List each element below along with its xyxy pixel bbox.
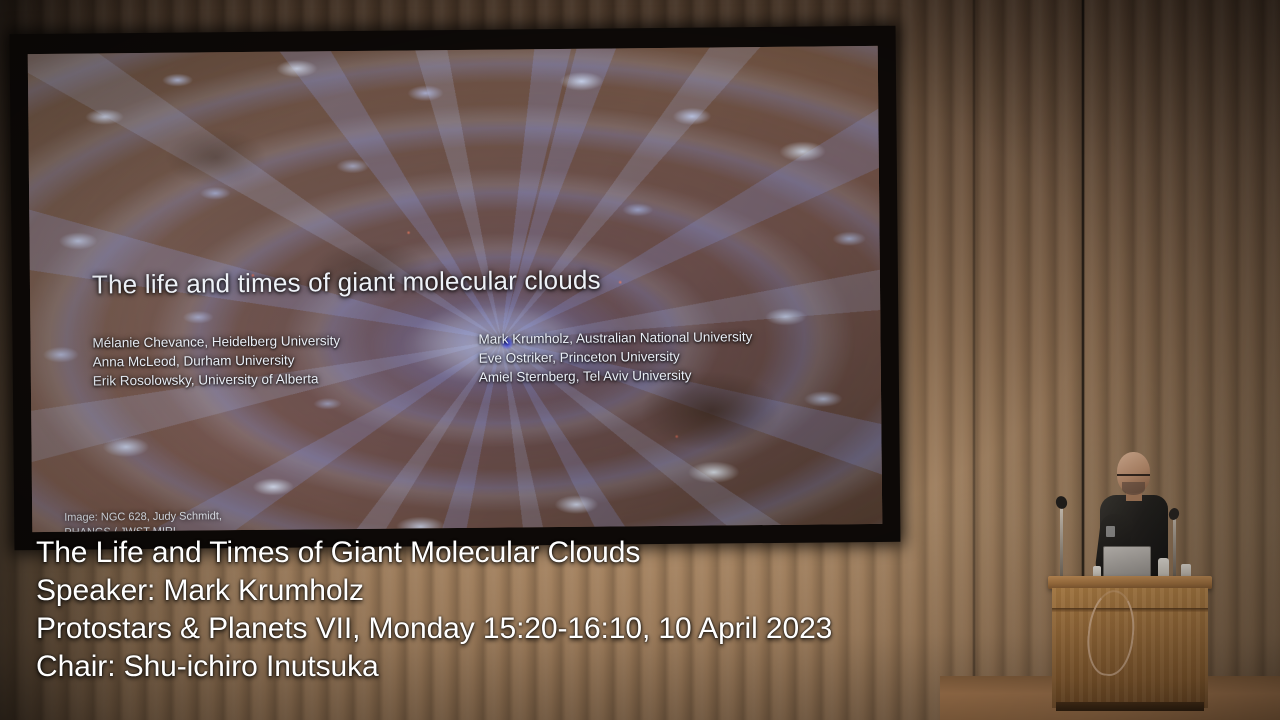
slide-image-credit: Image: NGC 628, Judy Schmidt, PHANGS / J… <box>64 509 222 532</box>
author-entry: Anna McLeod, Durham University <box>93 350 341 371</box>
microphone-stand-left <box>1060 502 1063 578</box>
speaker-beard <box>1122 482 1145 495</box>
caption-line-title: The Life and Times of Giant Molecular Cl… <box>36 534 1036 572</box>
slide-title: The life and times of giant molecular cl… <box>92 265 601 301</box>
screen-surface: The life and times of giant molecular cl… <box>28 46 883 532</box>
author-entry: Erik Rosolowsky, University of Alberta <box>93 369 341 390</box>
microphone-icon-left <box>1054 495 1068 511</box>
podium-area <box>1040 440 1240 710</box>
author-entry: Mark Krumholz, Australian National Unive… <box>478 327 752 349</box>
caption-line-session: Protostars & Planets VII, Monday 15:20-1… <box>36 610 1036 648</box>
author-entry: Eve Ostriker, Princeton University <box>479 346 753 368</box>
caption-overlay: The Life and Times of Giant Molecular Cl… <box>36 534 1036 686</box>
speaker-name-badge <box>1106 526 1115 537</box>
lecture-stage-scene: The life and times of giant molecular cl… <box>0 0 1280 720</box>
author-entry: Amiel Sternberg, Tel Aviv University <box>479 365 753 387</box>
projection-screen: The life and times of giant molecular cl… <box>10 26 901 550</box>
caption-line-speaker: Speaker: Mark Krumholz <box>36 572 1036 610</box>
caption-line-chair: Chair: Shu-ichiro Inutsuka <box>36 648 1036 686</box>
credit-line: Image: NGC 628, Judy Schmidt, <box>64 509 222 526</box>
microphone-stand-right <box>1173 514 1176 578</box>
author-entry: Mélanie Chevance, Heidelberg University <box>92 331 340 352</box>
slide-authors-left-column: Mélanie Chevance, Heidelberg University … <box>92 331 340 390</box>
podium-base <box>1056 702 1204 711</box>
laptop-on-podium <box>1103 546 1151 580</box>
slide-authors-right-column: Mark Krumholz, Australian National Unive… <box>478 327 752 387</box>
